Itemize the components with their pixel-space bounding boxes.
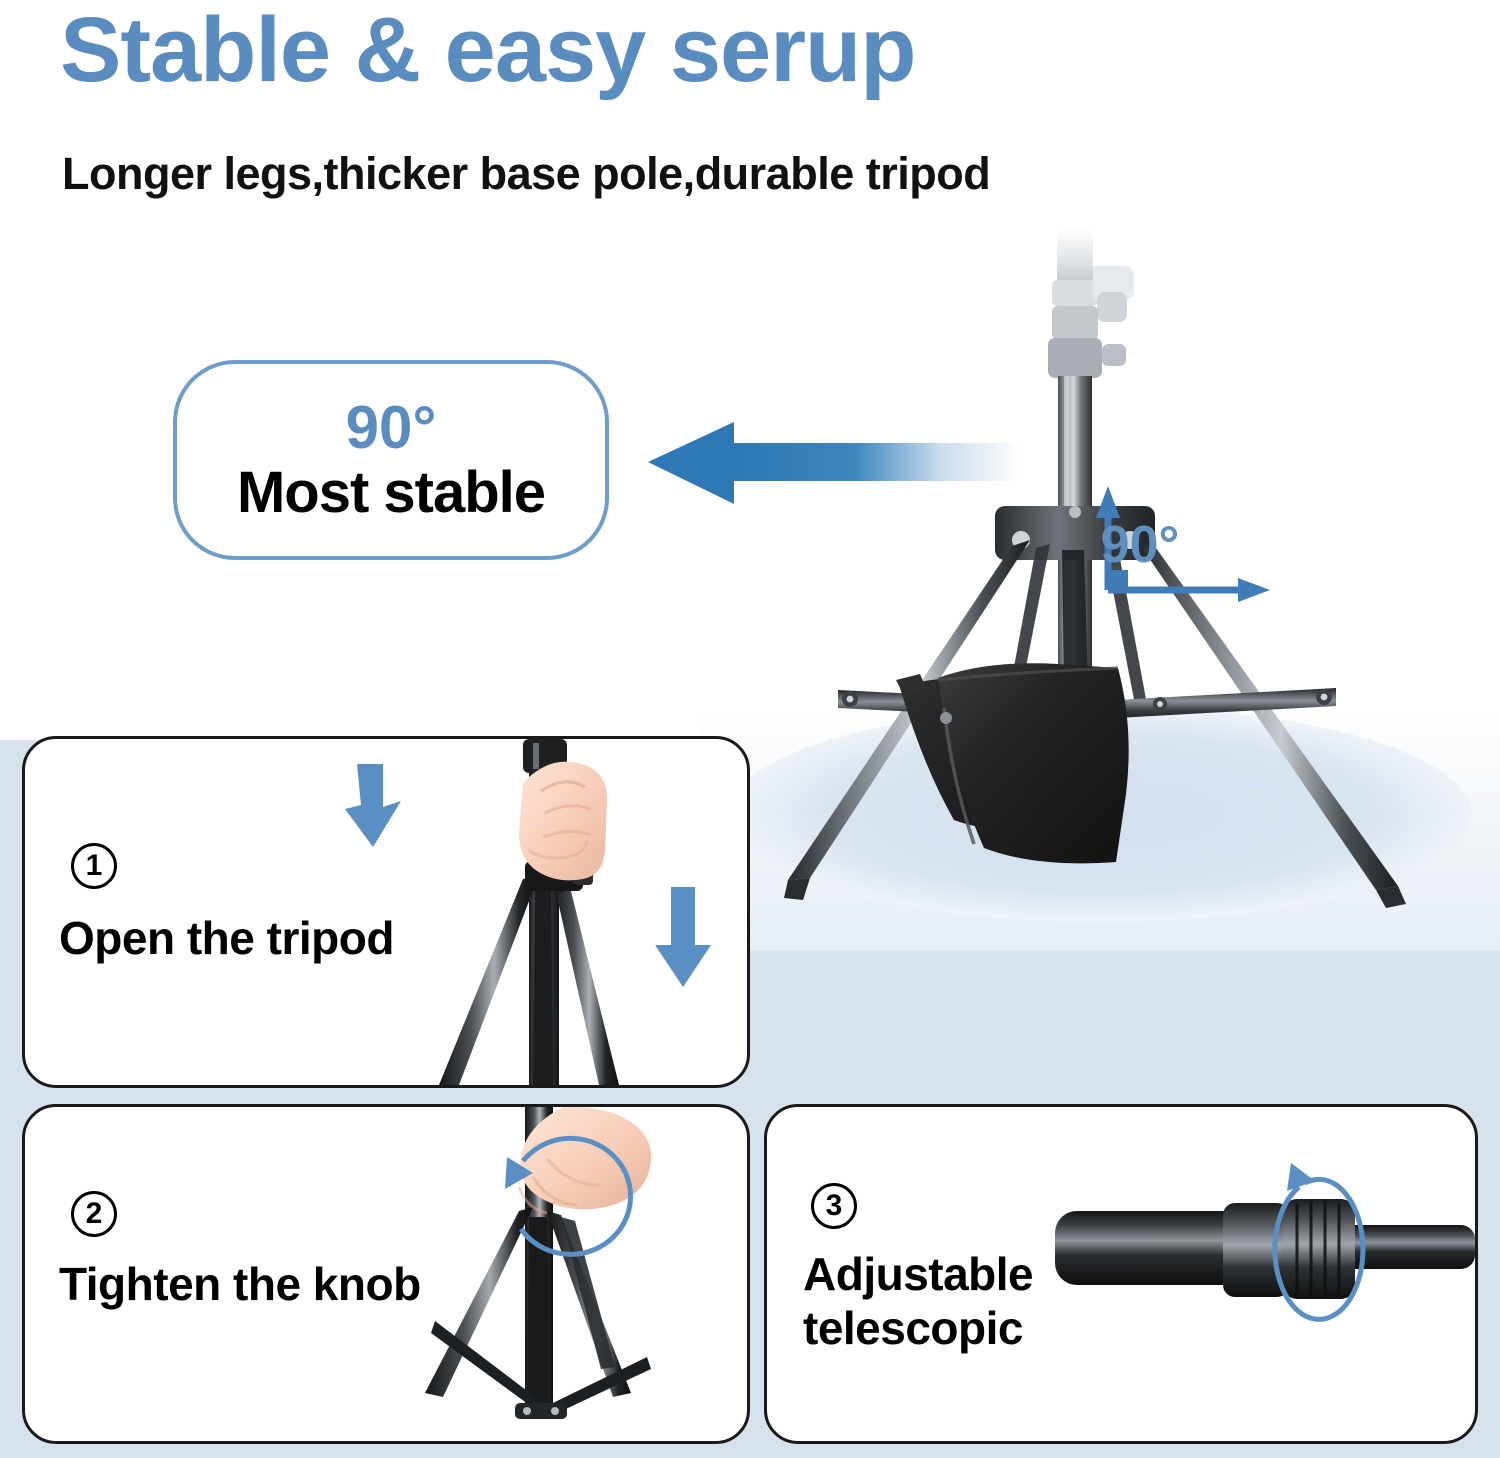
callout-angle-value: 90° [346, 398, 437, 458]
step-1-illustration [327, 739, 747, 1085]
direction-arrow-down-right-icon [655, 887, 711, 987]
step-3-number: 3 [811, 1183, 857, 1229]
angle-annotation-90: 90° [1096, 486, 1270, 602]
step-3-illustration [1055, 1107, 1475, 1441]
tripod-illustration: 90° [700, 210, 1500, 950]
most-stable-callout: 90° Most stable [173, 360, 609, 560]
page-subtitle: Longer legs,thicker base pole,durable tr… [62, 148, 990, 200]
hand-grip [519, 762, 607, 881]
step-panel-3: 3 Adjustable telescopic [764, 1104, 1478, 1444]
rotation-arrowhead-icon [1287, 1163, 1315, 1191]
step-2-illustration [347, 1107, 747, 1441]
step-1-number: 1 [71, 843, 117, 889]
tripod-collar [1048, 338, 1126, 378]
step-panel-1: 1 Open the tripod [22, 736, 750, 1088]
twist-lock [1283, 1199, 1355, 1299]
callout-label: Most stable [237, 464, 545, 522]
page-title: Stable & easy serup [60, 2, 915, 99]
angle-label-90: 90° [1101, 516, 1180, 574]
infographic-root: Stable & easy serup Longer legs,thicker … [0, 0, 1500, 1458]
step-2-number: 2 [71, 1191, 117, 1237]
step-panel-2: 2 Tighten the knob [22, 1104, 750, 1444]
direction-arrow-down-left-icon [345, 764, 401, 847]
step-3-label: Adjustable telescopic [803, 1247, 1033, 1356]
tripod-spigot [1052, 228, 1134, 340]
